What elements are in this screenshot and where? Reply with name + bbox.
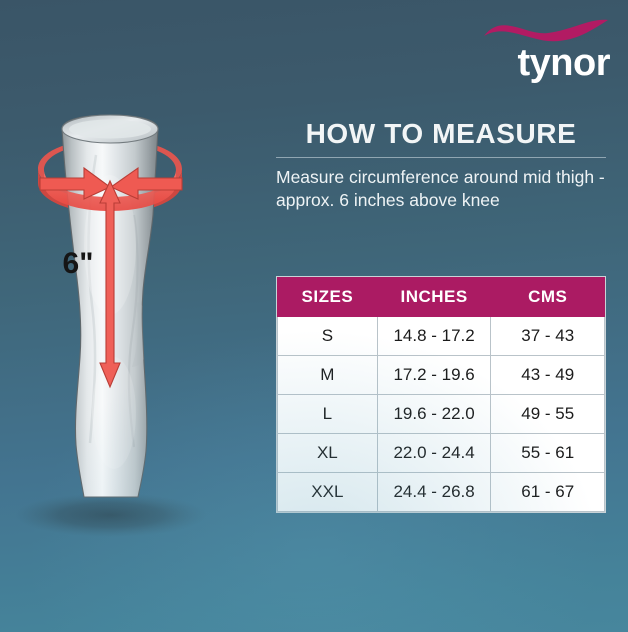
cell-cms: 61 - 67 [491,473,605,512]
cell-cms: 43 - 49 [491,356,605,395]
table-row: XL 22.0 - 24.4 55 - 61 [278,434,605,473]
measure-instructions: Measure circumference around mid thigh -… [276,166,606,212]
cell-size: M [278,356,378,395]
table-header-row: SIZES INCHES CMS [278,278,605,317]
cell-size: S [278,317,378,356]
size-chart-canvas: tynor HOW TO MEASURE Measure circumferen… [0,0,628,632]
cell-inches: 22.0 - 24.4 [377,434,491,473]
cell-inches: 17.2 - 19.6 [377,356,491,395]
leg-measurement-diagram: 6" [10,95,260,545]
heading-block: HOW TO MEASURE Measure circumference aro… [276,118,606,212]
cell-inches: 19.6 - 22.0 [377,395,491,434]
leg-illustration: 6" [10,95,260,545]
title-divider [276,157,606,158]
page-title: HOW TO MEASURE [276,118,606,150]
table-row: M 17.2 - 19.6 43 - 49 [278,356,605,395]
distance-label: 6" [63,247,94,280]
cell-inches: 14.8 - 17.2 [377,317,491,356]
cell-inches: 24.4 - 26.8 [377,473,491,512]
cell-size: XL [278,434,378,473]
cell-cms: 55 - 61 [491,434,605,473]
ground-shadow [15,493,207,537]
table-row: L 19.6 - 22.0 49 - 55 [278,395,605,434]
cell-cms: 49 - 55 [491,395,605,434]
column-header-inches: INCHES [377,278,491,317]
brand-name: tynor [470,42,610,84]
column-header-sizes: SIZES [278,278,378,317]
brand-logo: tynor [470,14,610,86]
cell-size: L [278,395,378,434]
cell-cms: 37 - 43 [491,317,605,356]
table-row: XXL 24.4 - 26.8 61 - 67 [278,473,605,512]
size-table: SIZES INCHES CMS S 14.8 - 17.2 37 - 43 M… [277,277,605,512]
cell-size: XXL [278,473,378,512]
table-row: S 14.8 - 17.2 37 - 43 [278,317,605,356]
column-header-cms: CMS [491,278,605,317]
